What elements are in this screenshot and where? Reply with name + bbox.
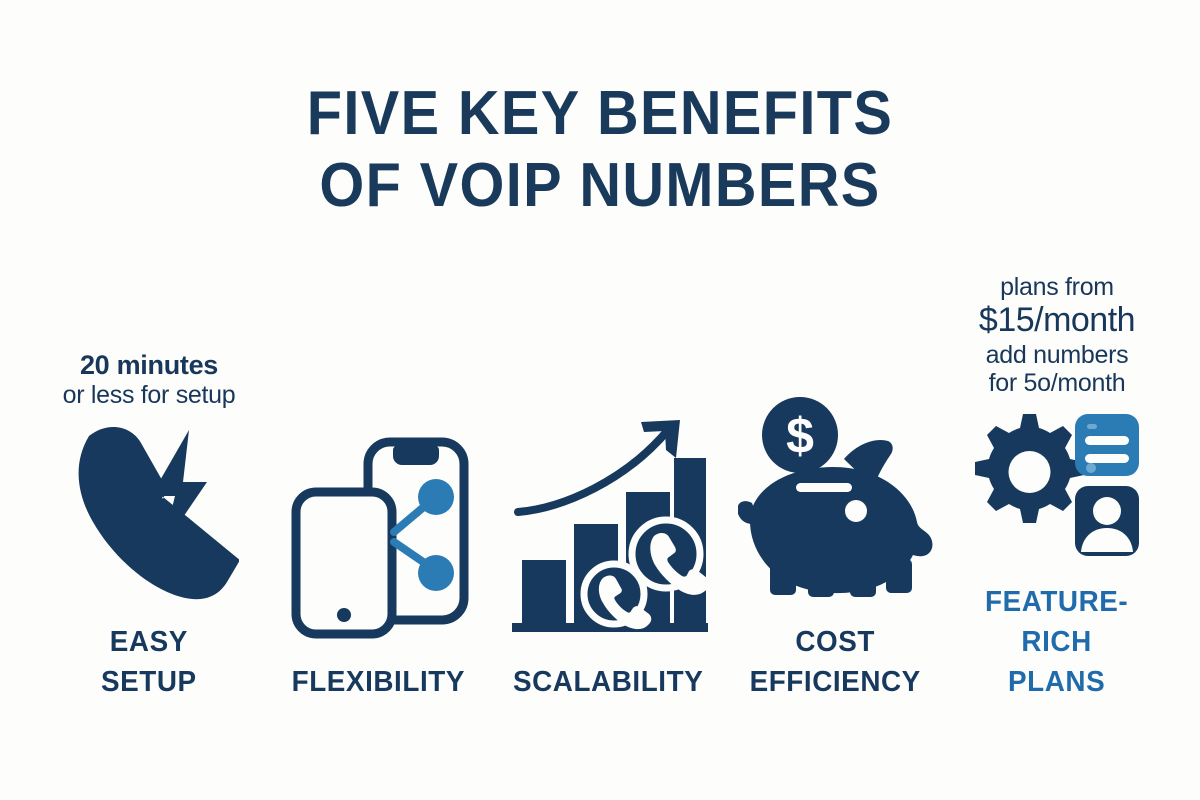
annotation-plans: plans from $15/month add numbers for 5o/… bbox=[979, 273, 1135, 398]
benefit-feature-rich-plans: plans from $15/month add numbers for 5o/… bbox=[952, 232, 1162, 702]
label-cost-efficiency: COST EFFICIENCY bbox=[750, 622, 921, 702]
annotation-easy-setup-line-2: or less for setup bbox=[63, 381, 236, 410]
growth-bar-chart-phone-icon bbox=[508, 408, 708, 640]
svg-text:$: $ bbox=[786, 408, 814, 464]
annotation-easy-setup: 20 minutes or less for setup bbox=[63, 350, 236, 410]
infographic-canvas: FIVE KEY BENEFITS OF VOIP NUMBERS 20 min… bbox=[0, 0, 1200, 800]
tablet-outline bbox=[296, 492, 392, 634]
title-line-2: OF VOIP NUMBERS bbox=[42, 150, 1158, 222]
coin-slot bbox=[796, 483, 852, 492]
annotation-easy-setup-line-1: 20 minutes bbox=[63, 350, 236, 381]
annotation-plans-line-4: for 5o/month bbox=[979, 369, 1135, 398]
benefit-scalability: SCALABILITY bbox=[497, 232, 719, 702]
benefits-row: 20 minutes or less for setup EASY bbox=[0, 232, 1200, 702]
page-title: FIVE KEY BENEFITS OF VOIP NUMBERS bbox=[0, 78, 1200, 222]
label-feature-rich-plans-line-2: RICH bbox=[985, 622, 1128, 662]
piggy-bank-coin-icon: $ bbox=[738, 395, 934, 600]
user-card-icon bbox=[1075, 486, 1139, 556]
label-feature-rich-plans-line-3: PLANS bbox=[985, 662, 1128, 702]
title-line-1: FIVE KEY BENEFITS bbox=[42, 78, 1158, 150]
two-phones-share-icon bbox=[284, 435, 474, 640]
label-cost-efficiency-line-1: COST bbox=[750, 622, 921, 662]
gear-icon bbox=[975, 414, 1084, 523]
label-scalability: SCALABILITY bbox=[513, 662, 703, 702]
gear-list-user-icon bbox=[971, 410, 1143, 560]
annotation-plans-line-3: add numbers bbox=[979, 341, 1135, 370]
share-nodes-icon bbox=[394, 479, 454, 591]
list-card-icon bbox=[1075, 414, 1139, 476]
benefit-easy-setup: 20 minutes or less for setup EASY bbox=[38, 232, 260, 702]
annotation-plans-line-1: plans from bbox=[979, 273, 1135, 302]
label-cost-efficiency-line-2: EFFICIENCY bbox=[750, 662, 921, 702]
label-easy-setup: EASY SETUP bbox=[101, 622, 197, 702]
label-feature-rich-plans: FEATURE- RICH PLANS bbox=[985, 582, 1128, 702]
phone-handset-lightning-icon bbox=[59, 422, 239, 600]
label-scalability-line-1: SCALABILITY bbox=[513, 662, 703, 702]
benefit-cost-efficiency: $ bbox=[729, 232, 943, 702]
piggy-body bbox=[738, 440, 932, 597]
annotation-plans-line-2: $15/month bbox=[979, 301, 1135, 340]
piggy-eye bbox=[845, 500, 867, 522]
label-flexibility-line-1: FLEXIBILITY bbox=[292, 662, 465, 702]
label-easy-setup-line-1: EASY bbox=[101, 622, 197, 662]
label-flexibility: FLEXIBILITY bbox=[292, 662, 465, 702]
benefit-flexibility: FLEXIBILITY bbox=[270, 232, 488, 702]
label-feature-rich-plans-line-1: FEATURE- bbox=[985, 582, 1128, 622]
dollar-coin-icon: $ bbox=[762, 397, 838, 473]
label-easy-setup-line-2: SETUP bbox=[101, 662, 197, 702]
